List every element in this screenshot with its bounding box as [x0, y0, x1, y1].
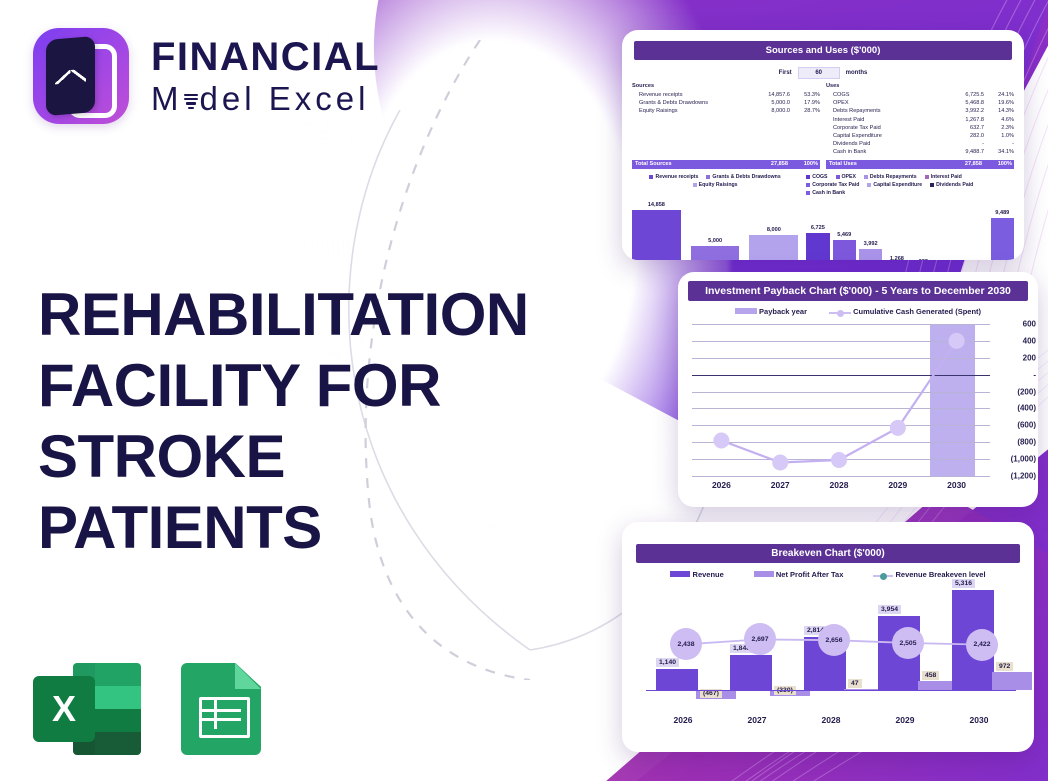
legend-swatch-icon [864, 175, 868, 179]
legend-item: OPEX [836, 174, 856, 180]
breakeven-plot-area: 1,140(467)1,848(330)2,814473,9544585,316… [646, 585, 1016, 705]
legend-item: Interest Paid [925, 174, 962, 180]
legend-swatch-npat-icon [754, 571, 774, 577]
payback-x-axis: 20262027202820292030 [692, 480, 986, 490]
legend-item-npat: Net Profit After Tax [754, 570, 844, 579]
total-label: Total Sources [632, 160, 748, 169]
legend-item-breakeven-level: Revenue Breakeven level [873, 570, 985, 579]
brand-line-2-suffix: del Excel [200, 82, 370, 115]
y-axis-tick-label: 200 [1023, 353, 1036, 362]
row-label: COGS [826, 91, 944, 99]
legend-label: Revenue [693, 570, 724, 579]
hamburger-o-icon [184, 92, 199, 109]
legend-swatch-bar-icon [735, 308, 757, 314]
x-axis-tick-label: 2027 [751, 480, 810, 490]
bar-column: 6,725 [806, 199, 829, 260]
bar-column: 3,992 [859, 199, 882, 260]
sources-uses-tables: Sources Revenue receipts 14,857.6 53.3% … [622, 79, 1024, 169]
payback-line-series [692, 324, 986, 476]
legend-swatch-breakeven-icon [873, 575, 893, 577]
row-value: 1,267.8 [944, 116, 984, 124]
row-pct: 2.3% [984, 124, 1014, 132]
table-row: Cash in Bank9,488.734.1% [826, 148, 1014, 156]
table-row: Revenue receipts 14,857.6 53.3% [632, 91, 820, 99]
table-row: Capital Expenditure282.01.0% [826, 132, 1014, 140]
row-label: Debts Repayments [826, 107, 944, 115]
legend-label: Capital Expenditure [873, 182, 922, 188]
row-label: Grants & Debts Drawdowns [632, 99, 750, 107]
legend-label: COGS [812, 174, 827, 180]
row-pct: 34.1% [984, 148, 1014, 156]
bar-column: 8,000 [749, 192, 798, 260]
row-value: 632.7 [944, 124, 984, 132]
y-axis-tick-label: 600 [1023, 320, 1036, 329]
bar-rect [749, 235, 798, 260]
row-label: OPEX [826, 99, 944, 107]
breakeven-x-axis: 20262027202820292030 [646, 715, 1016, 725]
months-label: months [846, 70, 868, 76]
breakeven-value-bubble: 2,656 [818, 624, 850, 656]
bar-value-label: 5,000 [708, 238, 722, 244]
bar-column: 5,469 [833, 199, 856, 260]
legend-swatch-icon [930, 183, 934, 187]
panel-investment-payback[interactable]: Investment Payback Chart ($'000) - 5 Yea… [678, 272, 1038, 507]
microsoft-excel-icon: X [33, 663, 141, 755]
sources-table: Sources Revenue receipts 14,857.6 53.3% … [632, 83, 820, 169]
bar-rect [806, 233, 829, 260]
bar-rect [833, 240, 856, 260]
table-row: Corporate Tax Paid632.72.3% [826, 124, 1014, 132]
row-value: 9,488.7 [944, 148, 984, 156]
sources-uses-title: Sources and Uses ($'000) [634, 41, 1012, 60]
financial-model-app-icon [33, 28, 129, 124]
y-axis-tick-label: (200) [1017, 387, 1036, 396]
row-pct: - [984, 140, 1014, 148]
first-months-control[interactable]: First 60 months [622, 67, 1024, 79]
brand-logo[interactable]: FINANCIAL M del Excel [33, 28, 380, 124]
table-row: Grants & Debts Drawdowns 5,000.0 17.9% [632, 99, 820, 107]
legend-swatch-icon [806, 183, 810, 187]
x-axis-tick-label: 2030 [942, 715, 1016, 725]
legend-swatch-icon [706, 175, 710, 179]
row-pct: 53.3% [790, 91, 820, 99]
bar-column: 0 [964, 199, 987, 260]
payback-plot-area: 600400200-(200)(400)(600)(800)(1,000)(1,… [692, 324, 986, 476]
bar-value-label: 6,725 [811, 225, 825, 231]
legend-item-revenue: Revenue [670, 570, 723, 579]
months-input[interactable]: 60 [798, 67, 840, 79]
bar-column: 5,000 [691, 192, 740, 260]
row-label: Equity Raisings [632, 107, 750, 115]
bar-value-label: 9,489 [995, 210, 1009, 216]
legend-label: Debts Repayments [870, 174, 917, 180]
y-axis-tick-label: - [1033, 370, 1036, 379]
legend-swatch-icon [867, 183, 871, 187]
x-axis-tick-label: 2026 [646, 715, 720, 725]
row-pct: 14.3% [984, 107, 1014, 115]
table-row: COGS6,725.524.1% [826, 91, 1014, 99]
row-value: 8,000.0 [750, 107, 790, 115]
row-pct: 4.6% [984, 116, 1014, 124]
breakeven-value-bubble: 2,505 [892, 627, 924, 659]
legend-swatch-icon [806, 175, 810, 179]
y-axis-tick-label: (800) [1017, 438, 1036, 447]
bar-value-label: 14,858 [648, 202, 665, 208]
bar-column: 633 [912, 199, 935, 260]
row-value: 3,992.2 [944, 107, 984, 115]
google-sheets-icon [181, 663, 261, 755]
total-label: Total Uses [826, 160, 942, 169]
row-label: Revenue receipts [632, 91, 750, 99]
row-value: 6,725.5 [944, 91, 984, 99]
sources-header: Sources [632, 83, 820, 89]
row-pct: 1.0% [984, 132, 1014, 140]
table-row: Dividends Paid-- [826, 140, 1014, 148]
y-axis-tick-label: (400) [1017, 404, 1036, 413]
brand-line-2-prefix: M [151, 82, 183, 115]
brand-wordmark: FINANCIAL M del Excel [151, 37, 380, 115]
legend-item: Equity Raisings [693, 182, 738, 188]
breakeven-legend: Revenue Net Profit After Tax Revenue Bre… [622, 570, 1034, 579]
legend-item-cumulative-cash: Cumulative Cash Generated (Spent) [829, 307, 981, 316]
legend-item: Capital Expenditure [867, 182, 922, 188]
row-value: 5,468.8 [944, 99, 984, 107]
x-axis-tick-label: 2026 [692, 480, 751, 490]
breakeven-value-bubble: 2,422 [966, 629, 998, 661]
legend-swatch-revenue-icon [670, 571, 690, 577]
legend-label: Cash in Bank [812, 190, 845, 196]
legend-item: Debts Repayments [864, 174, 917, 180]
legend-label: Equity Raisings [699, 182, 738, 188]
legend-item-payback-year: Payback year [735, 307, 807, 316]
total-pct: 100% [788, 160, 820, 169]
table-row: Debts Repayments3,992.214.3% [826, 107, 1014, 115]
x-axis-tick-label: 2030 [927, 480, 986, 490]
bar-value-label: 633 [919, 259, 928, 260]
legend-swatch-icon [806, 191, 810, 195]
legend-label: Revenue receipts [655, 174, 698, 180]
bar-rect [991, 218, 1014, 260]
row-label: Interest Paid [826, 116, 944, 124]
sources-bar-chart: Revenue receiptsGrants & Debts Drawdowns… [632, 174, 798, 260]
row-pct: 24.1% [984, 91, 1014, 99]
row-pct: 19.6% [984, 99, 1014, 107]
bar-value-label: 1,268 [890, 256, 904, 260]
payback-legend: Payback year Cumulative Cash Generated (… [678, 307, 1038, 316]
first-label: First [779, 70, 792, 76]
table-row: Equity Raisings 8,000.0 28.7% [632, 107, 820, 115]
panel-breakeven[interactable]: Breakeven Chart ($'000) Revenue Net Prof… [622, 522, 1034, 752]
panel-sources-and-uses[interactable]: Sources and Uses ($'000) First 60 months… [622, 30, 1024, 260]
gridline [692, 476, 990, 477]
row-pct: 28.7% [790, 107, 820, 115]
uses-header: Uses [826, 83, 1014, 89]
legend-swatch-icon [649, 175, 653, 179]
legend-item: Grants & Debts Drawdowns [706, 174, 780, 180]
y-axis-tick-label: (1,200) [1011, 472, 1036, 481]
x-axis-tick-label: 2027 [720, 715, 794, 725]
bar-value-label: 3,992 [864, 241, 878, 247]
uses-bar-chart: COGSOPEXDebts RepaymentsInterest PaidCor… [806, 174, 1014, 260]
row-value: - [944, 140, 984, 148]
y-axis-tick-label: (600) [1017, 421, 1036, 430]
row-label: Capital Expenditure [826, 132, 944, 140]
legend-label: OPEX [842, 174, 856, 180]
uses-table: Uses COGS6,725.524.1%OPEX5,468.819.6%Deb… [826, 83, 1014, 169]
payback-title: Investment Payback Chart ($'000) - 5 Yea… [688, 281, 1028, 301]
legend-item: Revenue receipts [649, 174, 698, 180]
x-axis-tick-label: 2029 [868, 715, 942, 725]
legend-item: COGS [806, 174, 827, 180]
legend-label: Corporate Tax Paid [812, 182, 859, 188]
legend-swatch-icon [925, 175, 929, 179]
table-row: Interest Paid1,267.84.6% [826, 116, 1014, 124]
bar-column: 14,858 [632, 192, 681, 260]
legend-item: Cash in Bank [806, 190, 845, 196]
sheets-table-glyph [199, 697, 250, 738]
legend-swatch-line-icon [829, 312, 851, 314]
brand-line-2: M del Excel [151, 82, 380, 115]
legend-item: Corporate Tax Paid [806, 182, 859, 188]
bar-rect [632, 210, 681, 260]
row-label: Corporate Tax Paid [826, 124, 944, 132]
page-title: REHABILITATION FACILITY FOR STROKE PATIE… [38, 280, 558, 563]
x-axis-tick-label: 2028 [794, 715, 868, 725]
row-value: 14,857.6 [750, 91, 790, 99]
legend-swatch-icon [836, 175, 840, 179]
supported-apps: X [33, 663, 261, 755]
row-value: 5,000.0 [750, 99, 790, 107]
x-axis-tick-label: 2029 [868, 480, 927, 490]
y-axis-tick-label: 400 [1023, 336, 1036, 345]
row-value: 282.0 [944, 132, 984, 140]
y-axis-tick-label: (1,000) [1011, 455, 1036, 464]
bar-value-label: 8,000 [767, 227, 781, 233]
row-label: Cash in Bank [826, 148, 944, 156]
legend-label: Cumulative Cash Generated (Spent) [853, 307, 981, 316]
bar-rect [691, 246, 740, 261]
total-value: 27,858 [942, 160, 982, 169]
poster-canvas: FINANCIAL M del Excel REHABILITATION FAC… [0, 0, 1048, 781]
x-axis-tick-label: 2028 [810, 480, 869, 490]
legend-label: Net Profit After Tax [776, 570, 844, 579]
brand-line-1: FINANCIAL [151, 37, 380, 77]
legend-label: Interest Paid [931, 174, 962, 180]
legend-swatch-icon [693, 183, 697, 187]
row-pct: 17.9% [790, 99, 820, 107]
chart-card-glyph [46, 36, 95, 116]
uses-total-row: Total Uses 27,858 100% [826, 160, 1014, 169]
table-row: OPEX5,468.819.6% [826, 99, 1014, 107]
bar-column: 282 [938, 199, 961, 260]
legend-label: Payback year [759, 307, 807, 316]
total-pct: 100% [982, 160, 1014, 169]
bar-value-label: 5,469 [837, 232, 851, 238]
total-value: 27,858 [748, 160, 788, 169]
legend-label: Revenue Breakeven level [896, 570, 986, 579]
row-label: Dividends Paid [826, 140, 944, 148]
bar-column: 9,489 [991, 199, 1014, 260]
legend-item: Dividends Paid [930, 182, 973, 188]
legend-label: Dividends Paid [936, 182, 973, 188]
legend-label: Grants & Debts Drawdowns [712, 174, 780, 180]
sources-total-row: Total Sources 27,858 100% [632, 160, 820, 169]
bar-rect [859, 249, 882, 260]
excel-x-letter: X [33, 676, 95, 742]
breakeven-title: Breakeven Chart ($'000) [636, 544, 1020, 563]
bar-column: 1,268 [885, 199, 908, 260]
